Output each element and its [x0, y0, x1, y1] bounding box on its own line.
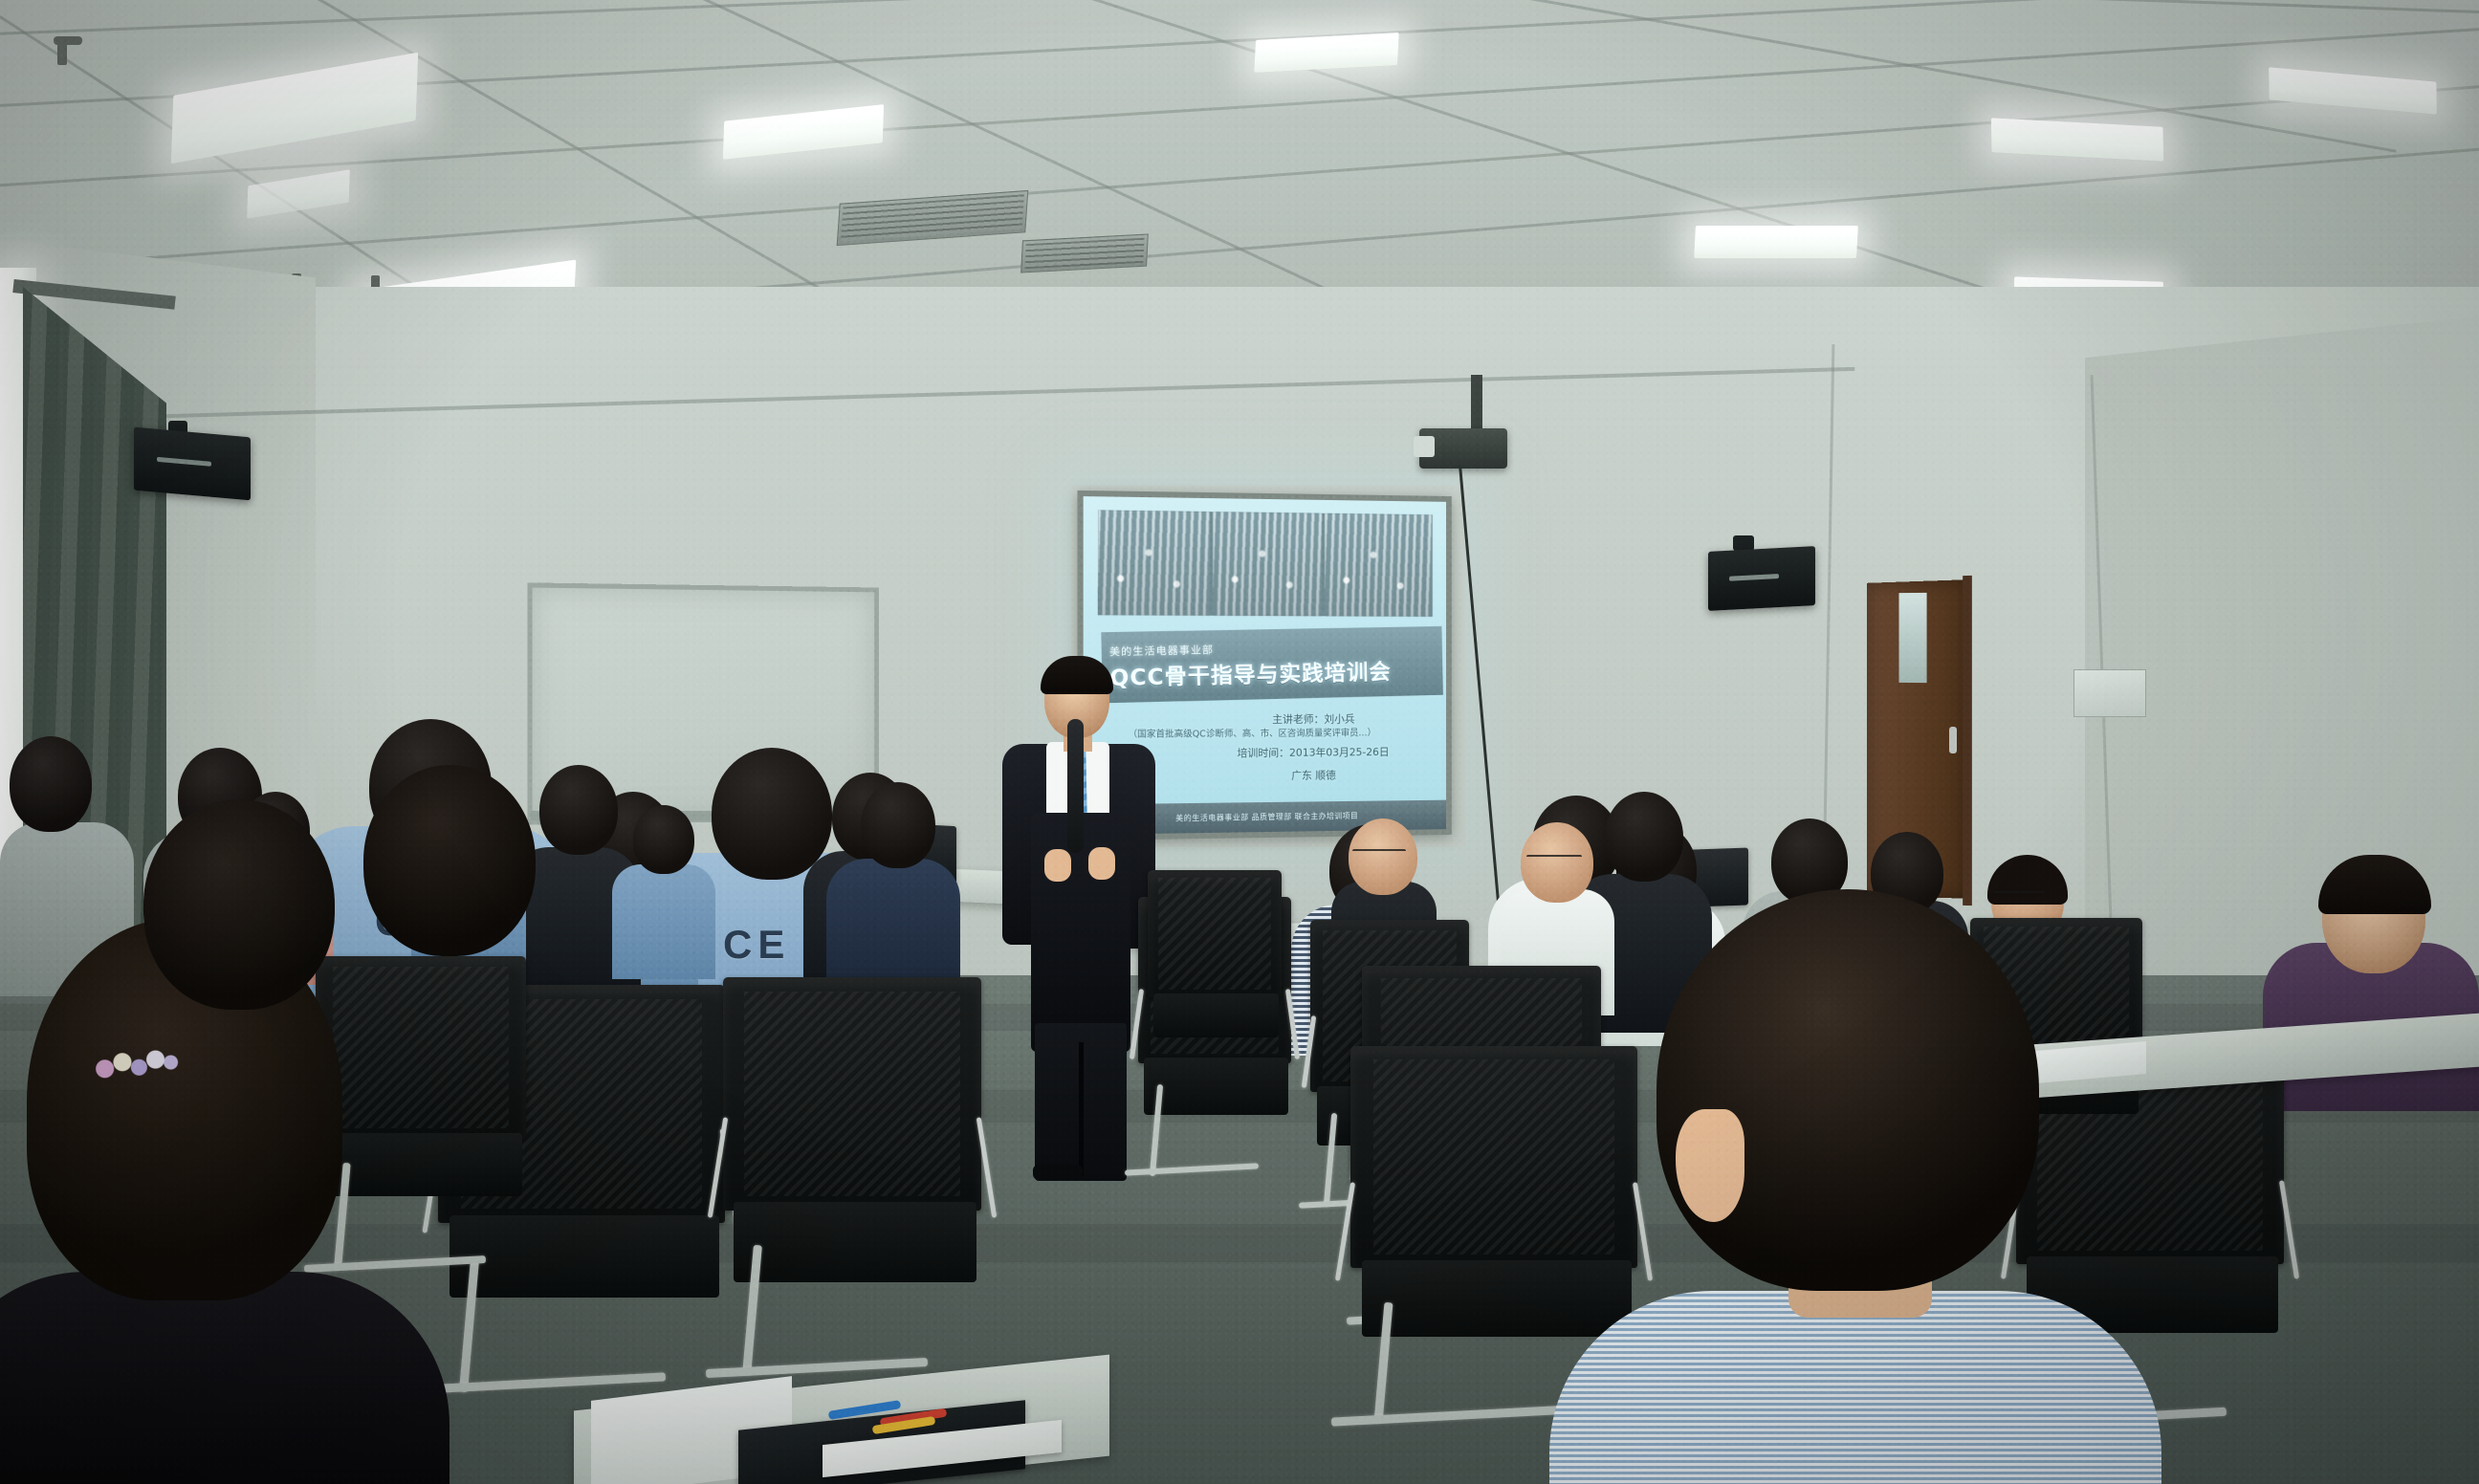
chair-seat — [1153, 993, 1280, 1037]
training-room-photo: 美的生活电器事业部 QCC骨干指导与实践培训会 主讲老师：刘小兵 （国家首批高级… — [0, 0, 2479, 1484]
attendee-head — [363, 765, 536, 956]
slide-photo-strip — [1098, 510, 1432, 616]
ceiling-hook — [54, 36, 82, 45]
ceiling-light-panel — [1694, 226, 1858, 258]
door-glass-pane — [1898, 593, 1926, 683]
wall-speaker-left — [134, 427, 251, 501]
presenter-hand-right — [1088, 847, 1115, 880]
chair-backrest — [1148, 870, 1282, 997]
attendee-back-row-2 — [612, 805, 715, 977]
attendee-head — [143, 799, 335, 1010]
ceiling-air-vent — [837, 190, 1029, 246]
chair-leg — [1125, 1163, 1259, 1175]
attendee-head — [1656, 889, 2039, 1291]
wall-speaker-right — [1708, 546, 1815, 611]
attendee-head — [539, 765, 618, 855]
presenter-hair — [1041, 656, 1113, 694]
chair[interactable] — [723, 977, 981, 1379]
attendee-shirt — [612, 864, 715, 979]
ceiling-light-panel — [1254, 33, 1399, 73]
presenter-hand-left — [1044, 849, 1071, 882]
attendee-head — [1605, 792, 1683, 882]
chair-backrest — [1350, 1046, 1637, 1268]
attendee-head — [633, 805, 694, 874]
eyeglasses — [1526, 855, 1582, 863]
slide-photo-1 — [1098, 510, 1210, 615]
door-handle[interactable] — [1949, 727, 1957, 753]
presenter-shoe — [1033, 1165, 1083, 1180]
attendee-hair — [2318, 855, 2431, 914]
ceiling-light-panel — [723, 104, 884, 160]
chair-leg — [421, 1372, 666, 1393]
attendee-midleft-head — [363, 765, 545, 966]
attendee-navy-shirt — [826, 782, 960, 993]
chair-leg — [1331, 1405, 1574, 1426]
projector-mount-pole — [1471, 375, 1482, 432]
chair-seat — [1362, 1260, 1632, 1337]
ceiling-light-panel — [2269, 67, 2437, 115]
wall-panel — [2073, 669, 2146, 717]
chair-backrest — [723, 977, 981, 1211]
slide-photo-2 — [1213, 512, 1322, 616]
ceiling-light-panel — [171, 53, 419, 164]
attendee-foreground-striped — [1607, 889, 2114, 1484]
projector-lens — [1414, 436, 1435, 457]
attendee-shirt — [0, 1272, 450, 1484]
handheld-microphone — [1067, 719, 1084, 853]
uniform-ce-marking: CE — [723, 922, 790, 968]
attendee-head — [10, 736, 92, 832]
ceiling-light-panel — [1991, 118, 2163, 162]
slide-photo-3 — [1325, 513, 1432, 617]
presenter-leg-split — [1079, 1042, 1084, 1176]
chair-leg — [706, 1358, 928, 1378]
attendee-shirt — [1549, 1291, 2161, 1484]
attendee-foreground-left-head — [143, 799, 344, 1019]
eyeglasses — [1352, 849, 1406, 858]
chair-seat — [734, 1202, 976, 1282]
attendee-head — [861, 782, 935, 868]
chair[interactable] — [1148, 870, 1282, 1090]
ceiling-air-vent — [1020, 233, 1149, 273]
